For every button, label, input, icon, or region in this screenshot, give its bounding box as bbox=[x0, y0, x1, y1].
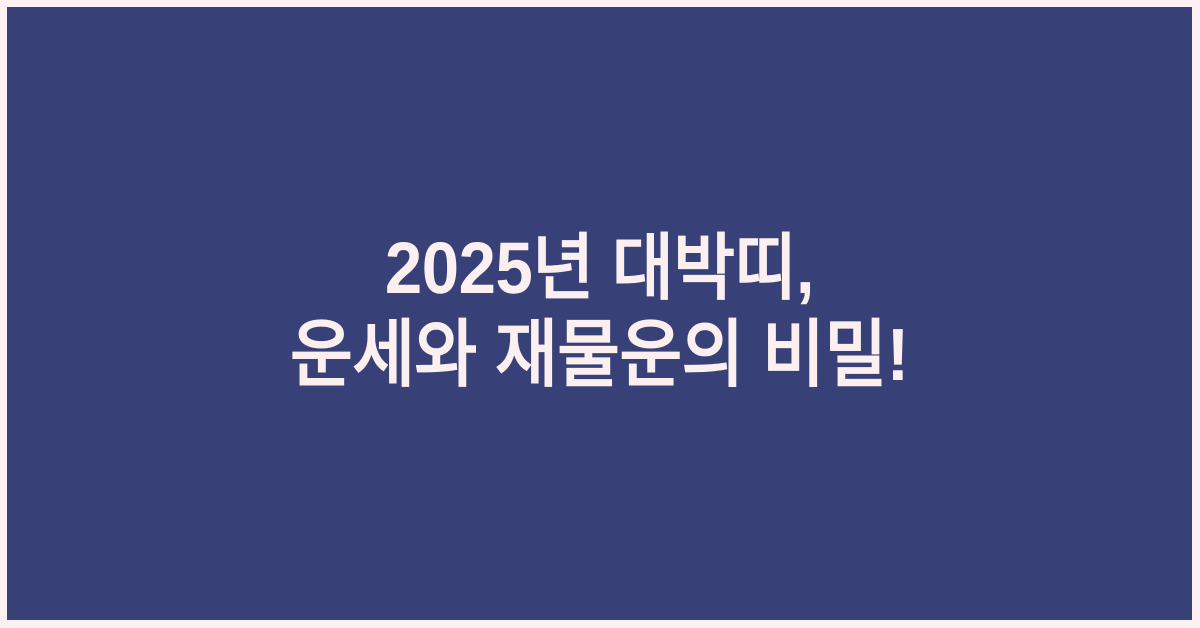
headline-line-1: 2025년 대박띠, bbox=[91, 226, 1108, 312]
thumbnail-card: 2025년 대박띠, 운세와 재물운의 비밀! bbox=[0, 0, 1200, 628]
thumbnail-canvas: 2025년 대박띠, 운세와 재물운의 비밀! bbox=[7, 7, 1192, 620]
headline-block: 2025년 대박띠, 운세와 재물운의 비밀! bbox=[7, 226, 1192, 398]
headline-line-2: 운세와 재물운의 비밀! bbox=[91, 312, 1108, 398]
